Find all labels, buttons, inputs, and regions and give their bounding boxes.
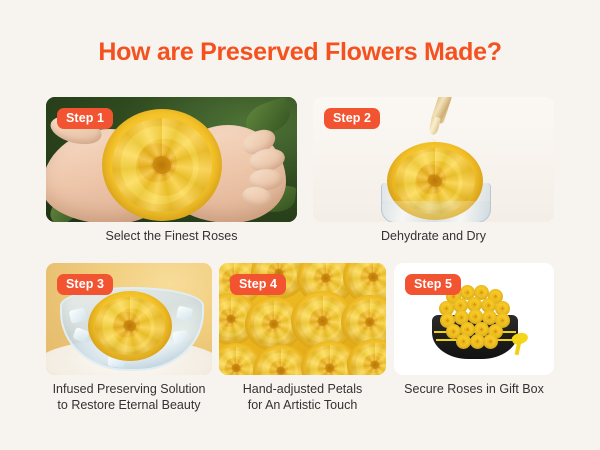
- page-title: How are Preserved Flowers Made?: [0, 38, 600, 67]
- yellow-rose: [102, 109, 222, 221]
- step-1-image: Step 1: [46, 97, 297, 222]
- step-badge-5: Step 5: [405, 274, 461, 295]
- step-caption-1: Select the Finest Roses: [42, 228, 302, 244]
- step-badge-2: Step 2: [324, 108, 380, 129]
- step-caption-5: Secure Roses in Gift Box: [344, 381, 600, 397]
- step-caption-2: Dehydrate and Dry: [304, 228, 564, 244]
- step-4-image: Step 4: [219, 263, 386, 375]
- step-badge-1: Step 1: [57, 108, 113, 129]
- step-caption-3: Infused Preserving Solution to Restore E…: [29, 381, 229, 413]
- step-card-5: Step 5 Secure Roses in Gift Box: [394, 263, 554, 375]
- infographic-root: How are Preserved Flowers Made? Step 1 S…: [0, 0, 600, 450]
- yellow-rose: [88, 291, 172, 361]
- mini-rose: [483, 334, 498, 349]
- step-3-image: Step 3: [46, 263, 212, 375]
- step-badge-3: Step 3: [57, 274, 113, 295]
- ice-cube: [176, 306, 193, 322]
- step-card-3: Step 3 Infused Preserving Solution to Re…: [46, 263, 212, 375]
- mini-rose: [456, 334, 471, 349]
- ice-cube: [172, 330, 189, 344]
- glass-front-rim: [381, 201, 491, 222]
- step-badge-4: Step 4: [230, 274, 286, 295]
- step-card-1: Step 1 Select the Finest Roses: [46, 97, 297, 222]
- step-5-image: Step 5: [394, 263, 554, 375]
- step-2-image: Step 2: [313, 97, 554, 222]
- step-card-2: Step 2 Dehydrate and Dry: [313, 97, 554, 222]
- step-card-4: Step 4 Hand-adjusted Petals for An Artis…: [219, 263, 386, 375]
